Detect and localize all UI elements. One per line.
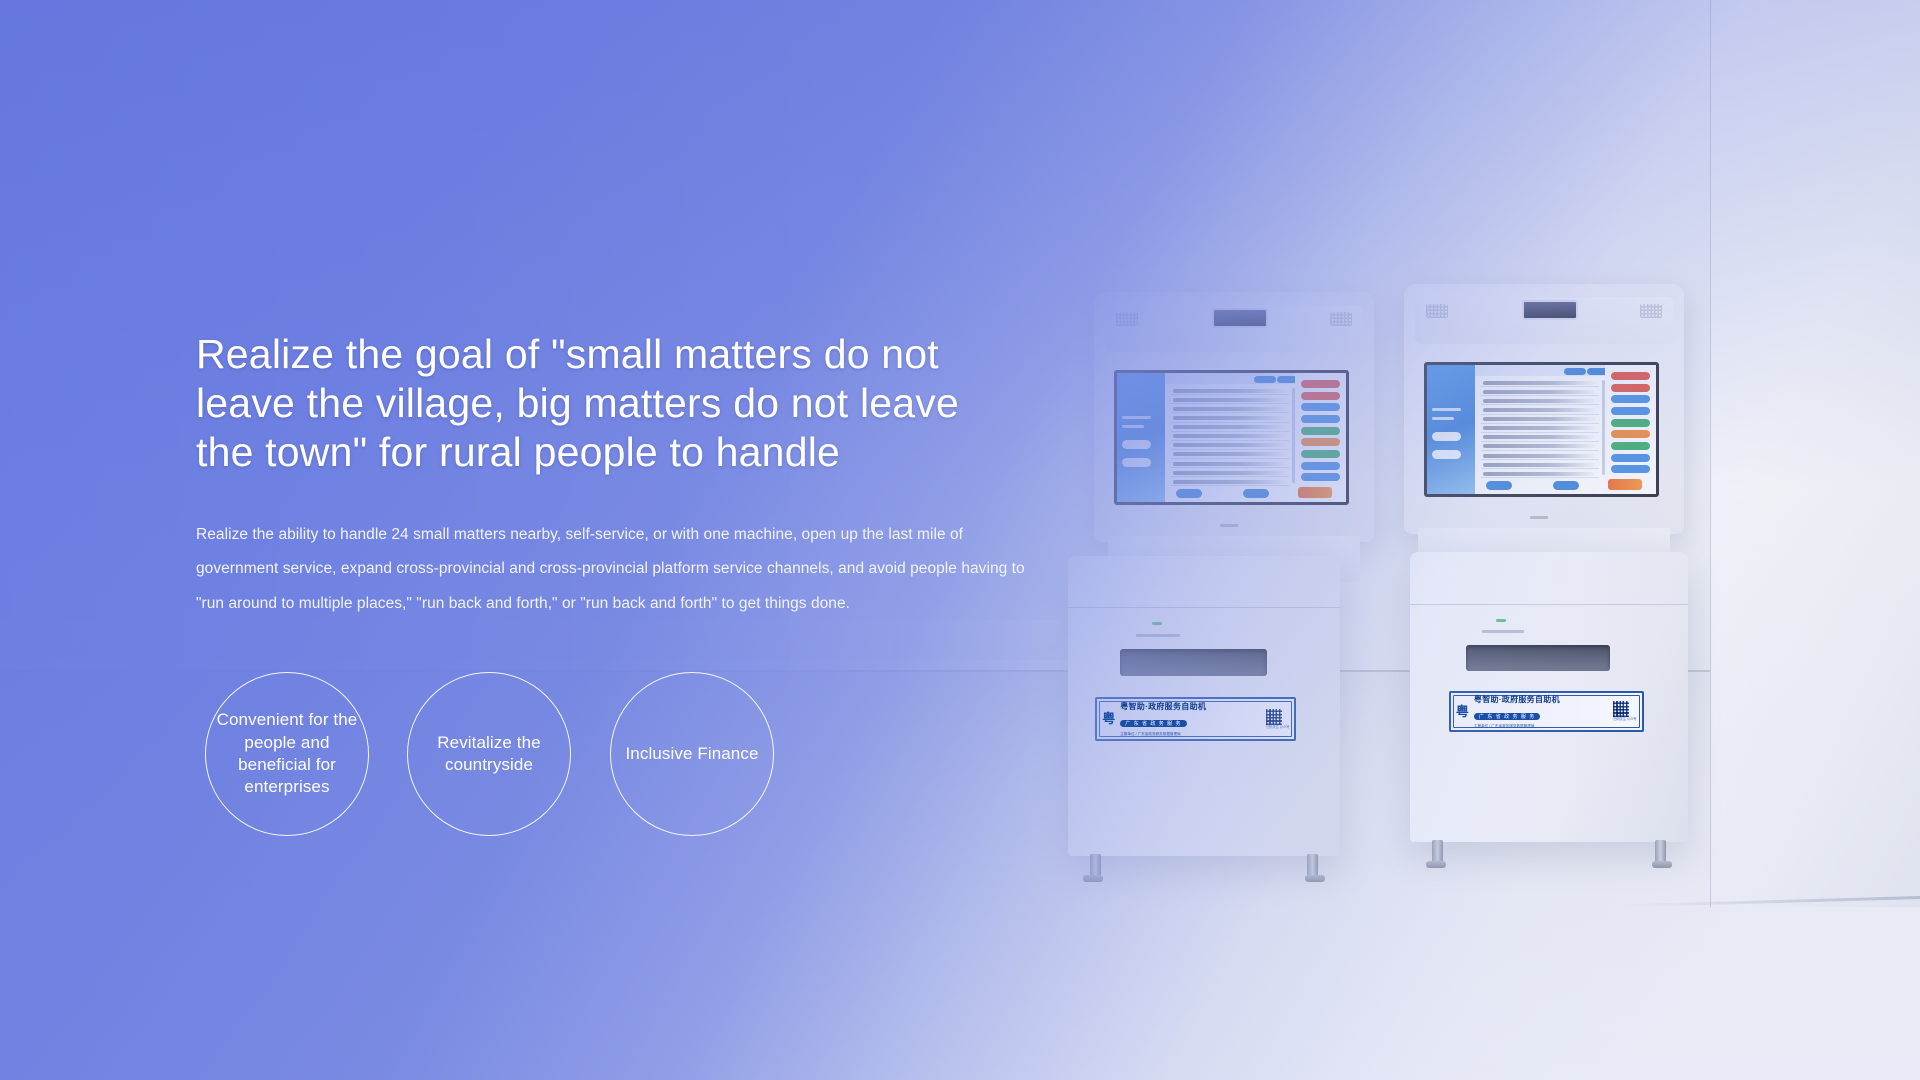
sign-footnote: 主管单位 / 广东省政务服务数据管理局	[1120, 732, 1261, 737]
benefit-badge-inclusive-finance[interactable]: Inclusive Finance	[610, 672, 774, 836]
yue-logo-icon: 粤	[1102, 712, 1115, 725]
benefit-badge-label: Revitalize the countryside	[408, 732, 570, 777]
sign-title: 粤智助·政府服务自助机	[1120, 701, 1261, 712]
sign-footnote: 主管单位 / 广东省政务服务数据管理局	[1474, 724, 1608, 729]
sign-text-block: 粤智助·政府服务自助机 广 东 省 政 务 服 务 主管单位 / 广东省政务服务…	[1120, 701, 1261, 737]
hero-content: Realize the goal of "small matters do no…	[0, 0, 1920, 1080]
yue-logo-icon: 粤	[1456, 705, 1469, 718]
benefit-badge-convenient[interactable]: Convenient for the people and beneficial…	[205, 672, 369, 836]
sign-subtitle: 广 东 省 政 务 服 务	[1474, 713, 1540, 720]
hero-description: Realize the ability to handle 24 small m…	[196, 518, 1038, 621]
benefit-badge-revitalize[interactable]: Revitalize the countryside	[407, 672, 571, 836]
benefit-badge-label: Convenient for the people and beneficial…	[206, 709, 368, 799]
sign-text-block: 粤智助·政府服务自助机 广 东 省 政 务 服 务 主管单位 / 广东省政务服务…	[1474, 694, 1608, 730]
sign-title: 粤智助·政府服务自助机	[1474, 694, 1608, 705]
benefit-badge-label: Inclusive Finance	[621, 743, 762, 765]
sign-subtitle: 广 东 省 政 务 服 务	[1120, 720, 1186, 727]
page-title: Realize the goal of "small matters do no…	[196, 330, 1026, 478]
